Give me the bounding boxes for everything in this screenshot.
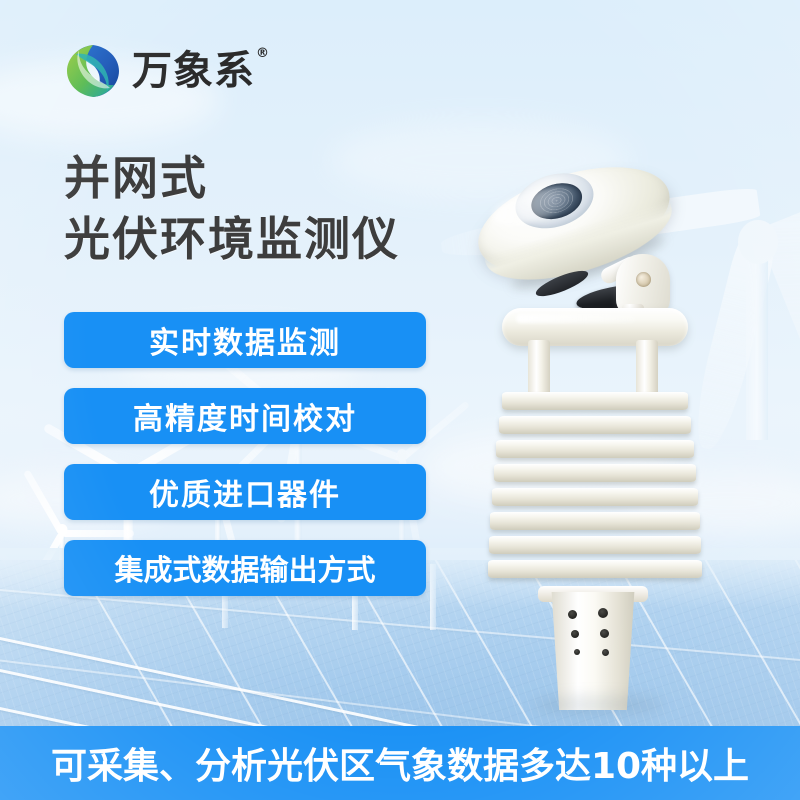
louver-plate [502, 392, 688, 410]
louver-plate [496, 440, 694, 458]
louvered-radiation-shield-icon [488, 392, 702, 592]
louver-plate [499, 416, 691, 434]
bottom-banner-text: 可采集、分析光伏区气象数据多达10种以上 [51, 737, 749, 789]
feature-pill-1[interactable]: 实时数据监测 [64, 312, 426, 368]
brand-logo[interactable]: 万象系 ® [64, 38, 324, 104]
turbine-mast [746, 240, 768, 440]
louver-plate [488, 560, 702, 578]
vent-hole [600, 629, 609, 638]
louver-plate [494, 464, 696, 482]
vent-hole [598, 608, 608, 618]
feature-pill-2[interactable]: 高精度时间校对 [64, 388, 426, 444]
feature-pill-label: 优质进口器件 [149, 470, 341, 514]
headline-line-2: 光伏环境监测仪 [64, 209, 494, 270]
turbine-blade [23, 469, 65, 535]
device-shadow [534, 696, 664, 714]
turbine-hub [738, 220, 778, 264]
rail-gloss [516, 314, 636, 323]
page-title: 并网式 光伏环境监测仪 [64, 148, 494, 269]
feature-pill-label: 实时数据监测 [149, 318, 341, 362]
louver-plate [489, 536, 701, 554]
feature-pill-label: 高精度时间校对 [133, 394, 357, 438]
brand-name-text: 万象系 [132, 48, 255, 94]
globe-swirl-logo-icon [64, 42, 122, 100]
feature-pill-label: 集成式数据输出方式 [114, 547, 375, 589]
vent-hole [602, 649, 609, 656]
feature-list: 实时数据监测 高精度时间校对 优质进口器件 集成式数据输出方式 [64, 312, 426, 616]
louver-plate [492, 488, 698, 506]
brand-name: 万象系 ® [132, 51, 255, 91]
vented-base-body-icon [546, 592, 640, 710]
hinge-bolt-icon [636, 272, 651, 287]
product-banner: 万象系 ® 并网式 光伏环境监测仪 实时数据监测 高精度时间校对 优质进口器件 … [0, 0, 800, 800]
feature-pill-3[interactable]: 优质进口器件 [64, 464, 426, 520]
vent-hole [571, 630, 579, 638]
bottom-banner: 可采集、分析光伏区气象数据多达10种以上 [0, 726, 800, 800]
vent-hole [574, 649, 580, 655]
vent-hole [568, 610, 577, 619]
product-image [480, 140, 730, 720]
registered-mark: ® [256, 47, 270, 60]
feature-pill-4[interactable]: 集成式数据输出方式 [64, 540, 426, 596]
headline-line-1: 并网式 [64, 148, 494, 209]
louver-plate [490, 512, 700, 530]
